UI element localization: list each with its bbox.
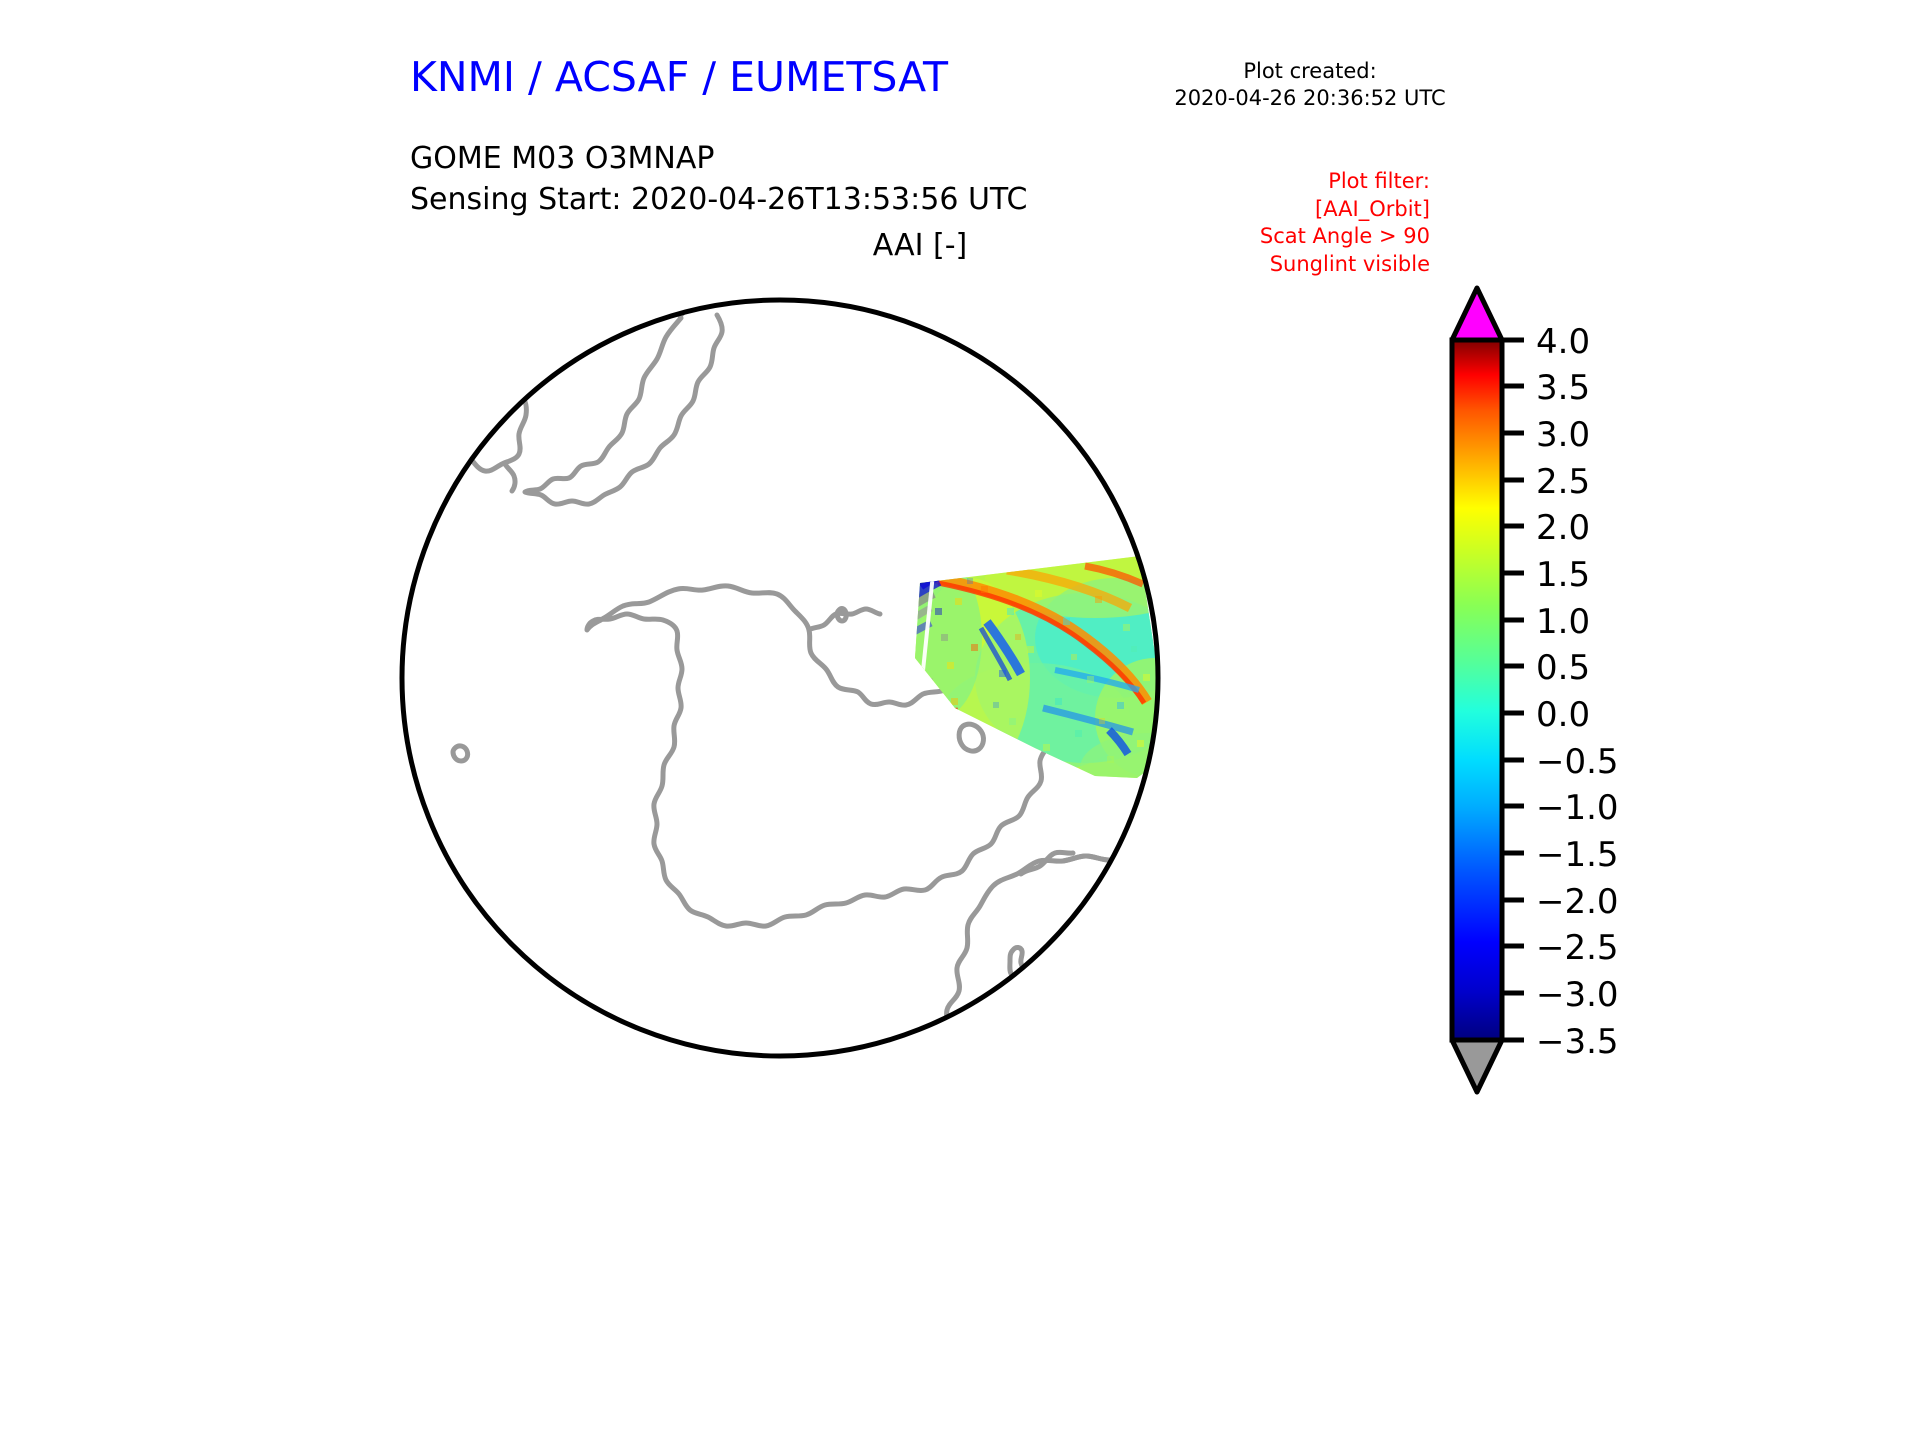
cb-label-6: 1.0 xyxy=(1536,602,1590,642)
cb-label-5: 1.5 xyxy=(1536,555,1590,595)
plot-filter-line-1: [AAI_Orbit] xyxy=(1150,196,1430,224)
cb-label-1: 3.5 xyxy=(1536,368,1590,408)
cb-label-15: −3.5 xyxy=(1536,1022,1619,1062)
colorbar-over-range-arrow xyxy=(1452,288,1502,340)
organisation-title: KNMI / ACSAF / EUMETSAT xyxy=(410,53,948,101)
cb-label-2: 3.0 xyxy=(1536,415,1590,455)
cb-label-3: 2.5 xyxy=(1536,462,1590,502)
instrument-line: GOME M03 O3MNAP xyxy=(410,139,1027,180)
plot-filter-line-2: Scat Angle > 90 xyxy=(1150,223,1430,251)
plot-created-block: Plot created: 2020-04-26 20:36:52 UTC xyxy=(1140,58,1480,112)
colorbar-ticks: 4.0 3.5 3.0 2.5 2.0 1.5 1.0 0.5 0.0 −0 xyxy=(1502,322,1619,1062)
cb-label-9: −0.5 xyxy=(1536,742,1619,782)
cb-label-4: 2.0 xyxy=(1536,508,1590,548)
quantity-title: AAI [-] xyxy=(700,228,1140,263)
dataset-info-block: GOME M03 O3MNAP Sensing Start: 2020-04-2… xyxy=(410,139,1027,220)
map-panel xyxy=(395,278,1175,1068)
polar-projection-map xyxy=(395,278,1175,1068)
colorbar: 4.0 3.5 3.0 2.5 2.0 1.5 1.0 0.5 0.0 −0 xyxy=(1430,280,1850,1110)
plot-canvas: KNMI / ACSAF / EUMETSAT Plot created: 20… xyxy=(0,0,1920,1440)
cb-label-13: −2.5 xyxy=(1536,928,1619,968)
cb-label-12: −2.0 xyxy=(1536,882,1619,922)
colorbar-gradient xyxy=(1452,340,1502,1040)
plot-created-timestamp: 2020-04-26 20:36:52 UTC xyxy=(1140,85,1480,112)
cb-label-11: −1.5 xyxy=(1536,835,1619,875)
cb-label-10: −1.0 xyxy=(1536,788,1619,828)
cb-label-0: 4.0 xyxy=(1536,322,1590,362)
plot-filter-block: Plot filter: [AAI_Orbit] Scat Angle > 90… xyxy=(1150,168,1430,279)
sensing-start-line: Sensing Start: 2020-04-26T13:53:56 UTC xyxy=(410,180,1027,221)
cb-label-14: −3.0 xyxy=(1536,975,1619,1015)
cb-label-7: 0.5 xyxy=(1536,648,1590,688)
colorbar-under-range-arrow xyxy=(1452,1040,1502,1092)
plot-filter-line-3: Sunglint visible xyxy=(1150,251,1430,279)
plot-created-label: Plot created: xyxy=(1140,58,1480,85)
cb-label-8: 0.0 xyxy=(1536,695,1590,735)
plot-filter-line-0: Plot filter: xyxy=(1150,168,1430,196)
colorbar-panel: 4.0 3.5 3.0 2.5 2.0 1.5 1.0 0.5 0.0 −0 xyxy=(1430,280,1850,1110)
